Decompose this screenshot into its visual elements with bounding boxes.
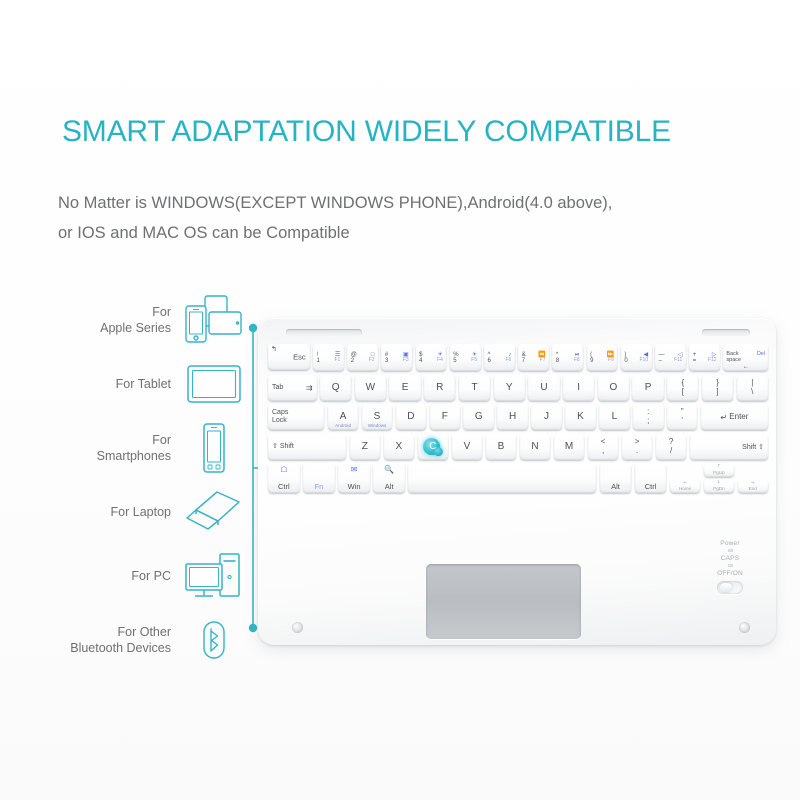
key-c-bluetooth-pairing[interactable]: C [418, 434, 449, 460]
key-f[interactable]: F [430, 404, 461, 430]
key-fn[interactable]: Fn [303, 463, 335, 493]
key-semicolon[interactable]: :; [633, 404, 664, 430]
key-equals[interactable]: +▷ =F12 [689, 344, 720, 371]
key-space[interactable] [408, 463, 596, 493]
key-matrix: ↰ Esc !☰ 1F1 @□ 2F2 #▣ 3F3 $☀ 4F4 %☀ 5F5 [268, 344, 768, 497]
key-backslash[interactable]: |\ [737, 375, 768, 401]
tablet-icon [183, 355, 245, 413]
key-period[interactable]: >. [622, 434, 653, 460]
key-q[interactable]: Q [320, 375, 351, 401]
palm-rest [258, 550, 776, 645]
list-item-tablet: For Tablet [40, 352, 245, 416]
key-w[interactable]: W [355, 375, 386, 401]
key-ctrl-right[interactable]: Ctrl [635, 463, 667, 493]
key-bracket-right[interactable]: }] [702, 375, 733, 401]
key-row-home: Caps Lock AAndroid SWindows D F G H J K … [268, 404, 768, 430]
key-d[interactable]: D [396, 404, 427, 430]
key-alt-left[interactable]: 🔍 Alt [373, 463, 405, 493]
trackpad[interactable] [426, 564, 581, 639]
list-item-label: For PC [131, 568, 183, 584]
key-r[interactable]: R [424, 375, 455, 401]
compatibility-list: For Apple Series For Tablet For Smartpho… [40, 288, 245, 672]
key-l[interactable]: L [599, 404, 630, 430]
arrow-left-wrap: ← Home [670, 463, 700, 493]
page-subtitle: No Matter is WINDOWS(EXCEPT WINDOWS PHON… [58, 188, 612, 248]
key-h[interactable]: H [497, 404, 528, 430]
search-icon: 🔍 [384, 466, 394, 474]
key-m[interactable]: M [554, 434, 585, 460]
list-item-laptop: For Laptop [40, 480, 245, 544]
key-arrow-right[interactable]: → End [738, 479, 768, 493]
key-4[interactable]: $☀ 4F4 [416, 344, 447, 371]
key-shift-left[interactable]: ⇧ Shift [268, 434, 346, 460]
list-item-pc: For PC [40, 544, 245, 608]
key-s[interactable]: SWindows [362, 404, 393, 430]
key-t[interactable]: T [459, 375, 490, 401]
key-arrow-left[interactable]: ← Home [670, 479, 700, 493]
bluetooth-icon [183, 611, 245, 669]
key-enter[interactable]: ↵ Enter [701, 404, 768, 430]
key-n[interactable]: N [520, 434, 551, 460]
caps-led [728, 564, 733, 567]
list-item-other-bluetooth: For Other Bluetooth Devices [40, 608, 245, 672]
mail-icon: ✉ [351, 466, 358, 474]
apple-devices-icon [183, 291, 245, 349]
rubber-foot-right [739, 622, 750, 633]
key-slash[interactable]: ?/ [656, 434, 687, 460]
key-arrow-up[interactable]: ↑ PgUp [704, 463, 734, 477]
home-icon: ☖ [280, 466, 287, 474]
list-item-label: For Laptop [111, 504, 183, 520]
key-p[interactable]: P [632, 375, 663, 401]
key-tab[interactable]: Tab ⇉ [268, 375, 317, 401]
key-5[interactable]: %☀ 5F5 [450, 344, 481, 371]
bluetooth-keyboard: ↰ Esc !☰ 1F1 @□ 2F2 #▣ 3F3 $☀ 4F4 %☀ 5F5 [258, 318, 776, 645]
key-x[interactable]: X [384, 434, 415, 460]
list-item-label: For Other Bluetooth Devices [70, 624, 183, 656]
key-g[interactable]: G [463, 404, 494, 430]
keyboard-top-slot-right [702, 329, 750, 336]
bracket-node-top [249, 324, 257, 332]
key-row-numbers: ↰ Esc !☰ 1F1 @□ 2F2 #▣ 3F3 $☀ 4F4 %☀ 5F5 [268, 344, 768, 371]
key-j[interactable]: J [531, 404, 562, 430]
power-indicator-label: Power [702, 540, 758, 548]
page-title: SMART ADAPTATION WIDELY COMPATIBLE [62, 115, 671, 149]
list-item-smartphones: For Smartphones [40, 416, 245, 480]
key-0[interactable]: )◀ 0F10 [621, 344, 652, 371]
key-k[interactable]: K [565, 404, 596, 430]
status-indicator-panel: Power CAPS OFF/ON [702, 540, 758, 594]
arrow-updown-wrap: ↑ PgUp ↓ PgDn [704, 463, 734, 493]
key-backspace[interactable]: BackDel space ← [723, 344, 768, 371]
smartphone-icon [183, 419, 245, 477]
key-shift-right[interactable]: Shift ⇧ [690, 434, 768, 460]
key-6[interactable]: ^♪ 6F6 [484, 344, 515, 371]
subtitle-line-1: No Matter is WINDOWS(EXCEPT WINDOWS PHON… [58, 194, 612, 212]
key-a[interactable]: AAndroid [328, 404, 359, 430]
key-y[interactable]: Y [494, 375, 525, 401]
keyboard-top-slot-left [286, 329, 362, 336]
key-7[interactable]: &⏪ 7F7 [518, 344, 549, 371]
key-2[interactable]: @□ 2F2 [347, 344, 378, 371]
key-i[interactable]: I [563, 375, 594, 401]
key-minus[interactable]: —◁ –F11 [655, 344, 686, 371]
key-row-bottom: ☖ Ctrl Fn ✉ Win 🔍 Alt Alt Ctrl [268, 463, 768, 493]
list-item-label: For Smartphones [97, 432, 183, 464]
key-win[interactable]: ✉ Win [338, 463, 370, 493]
key-9[interactable]: (⏩ 9F9 [587, 344, 618, 371]
power-switch[interactable] [717, 581, 743, 594]
key-row-shift: ⇧ Shift Z X C V B N M <, >. ?/ Shift [268, 434, 768, 460]
key-comma[interactable]: <, [588, 434, 619, 460]
key-z[interactable]: Z [350, 434, 381, 460]
desktop-pc-icon [183, 547, 245, 605]
rubber-foot-left [292, 622, 303, 633]
key-8[interactable]: *⏯ 8F8 [552, 344, 583, 371]
key-row-qwerty: Tab ⇉ Q W E R T Y U I O P {[ }] |\ [268, 375, 768, 401]
list-item-label: For Apple Series [100, 304, 183, 336]
subtitle-line-2: or IOS and MAC OS can be Compatible [58, 224, 350, 242]
key-o[interactable]: O [598, 375, 629, 401]
key-arrow-down[interactable]: ↓ PgDn [704, 479, 734, 493]
list-item-apple-series: For Apple Series [40, 288, 245, 352]
laptop-icon [183, 483, 245, 541]
key-e[interactable]: E [389, 375, 420, 401]
arrow-right-wrap: → End [738, 463, 768, 493]
power-led [728, 549, 733, 552]
key-ctrl-left[interactable]: ☖ Ctrl [268, 463, 300, 493]
key-esc[interactable]: ↰ Esc [268, 344, 310, 370]
power-switch-label: OFF/ON [702, 570, 758, 578]
caps-indicator-label: CAPS [702, 555, 758, 563]
key-v[interactable]: V [452, 434, 483, 460]
key-quote[interactable]: "' [667, 404, 698, 430]
list-item-label: For Tablet [116, 376, 183, 392]
bracket-node-bottom [249, 624, 257, 632]
key-b[interactable]: B [486, 434, 517, 460]
key-u[interactable]: U [528, 375, 559, 401]
key-alt-right[interactable]: Alt [600, 463, 632, 493]
key-caps-lock[interactable]: Caps Lock [268, 404, 324, 430]
key-3[interactable]: #▣ 3F3 [381, 344, 412, 371]
key-1[interactable]: !☰ 1F1 [313, 344, 344, 371]
key-bracket-left[interactable]: {[ [667, 375, 698, 401]
